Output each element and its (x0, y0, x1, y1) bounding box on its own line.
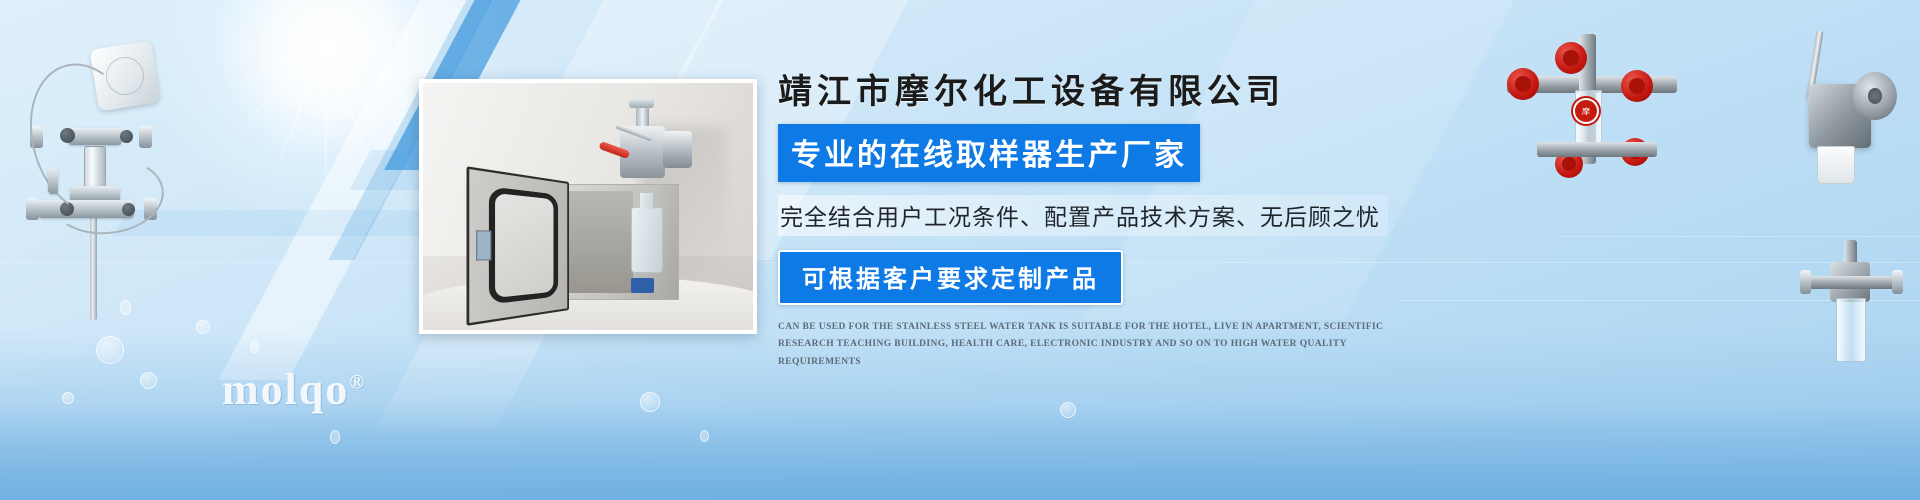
cta-badge[interactable]: 可根据客户要求定制产品 (778, 250, 1123, 305)
glass-column (1836, 298, 1866, 362)
bubble-icon (140, 372, 157, 389)
cabinet-door (466, 166, 569, 325)
door-lock-icon (476, 230, 491, 260)
registered-mark-icon: ® (349, 371, 366, 393)
promo-banner: 摩 靖江市摩尔化工设备有限公司 专业的在线取样器生产厂家 完全结合用户工况条件、… (0, 0, 1920, 500)
english-caption: CAN BE USED FOR THE STAINLESS STEEL WATE… (778, 319, 1385, 372)
sub-headline: 完全结合用户工况条件、配置产品技术方案、无后顾之忧 (778, 195, 1388, 236)
product-photo[interactable] (419, 79, 757, 334)
banner-text-block: 靖江市摩尔化工设备有限公司 专业的在线取样器生产厂家 完全结合用户工况条件、配置… (778, 72, 1518, 371)
sampling-valve-assembly (601, 103, 687, 187)
pipe-flange (1800, 270, 1811, 294)
door-window (489, 187, 558, 305)
valve-flange (663, 131, 692, 168)
company-name: 靖江市摩尔化工设备有限公司 (778, 72, 1518, 115)
pipe-flange (26, 198, 39, 220)
headline-highlight: 专业的在线取样器生产厂家 (778, 124, 1200, 182)
hand-wheel-red (1555, 42, 1587, 74)
bubble-icon (640, 392, 660, 412)
right-equipment-lever-valve (1795, 28, 1915, 203)
left-equipment-illustration (8, 28, 178, 318)
right-equipment-valve-cross: 摩 (1497, 34, 1687, 164)
watermark-logo: molqo® (222, 364, 366, 415)
bubble-icon (96, 336, 124, 364)
water-wave (0, 404, 1920, 500)
bubble-icon (62, 392, 74, 404)
water-drop-icon (330, 430, 340, 444)
horizon-line (1560, 236, 1920, 237)
hand-wheel-red (1621, 70, 1653, 102)
bubble-icon (1060, 402, 1076, 418)
water-drop-icon (700, 430, 709, 442)
sample-bottle (631, 207, 663, 273)
pipe-horizontal (1804, 276, 1898, 289)
pipe-horizontal (1537, 142, 1657, 157)
sample-cup (1817, 146, 1855, 184)
valve-knob (629, 98, 655, 108)
right-equipment-glass-sampler (1800, 240, 1920, 390)
water-drop-icon (250, 340, 259, 353)
cabinet-interior (564, 191, 633, 293)
logo-text: molqo (222, 365, 349, 414)
valve-flange (1853, 72, 1897, 120)
bubble-icon (196, 320, 210, 334)
company-seal-icon: 摩 (1575, 100, 1597, 122)
pipe-flange (1892, 270, 1903, 294)
bottle-cap (631, 278, 654, 293)
relief-valve (48, 168, 58, 194)
